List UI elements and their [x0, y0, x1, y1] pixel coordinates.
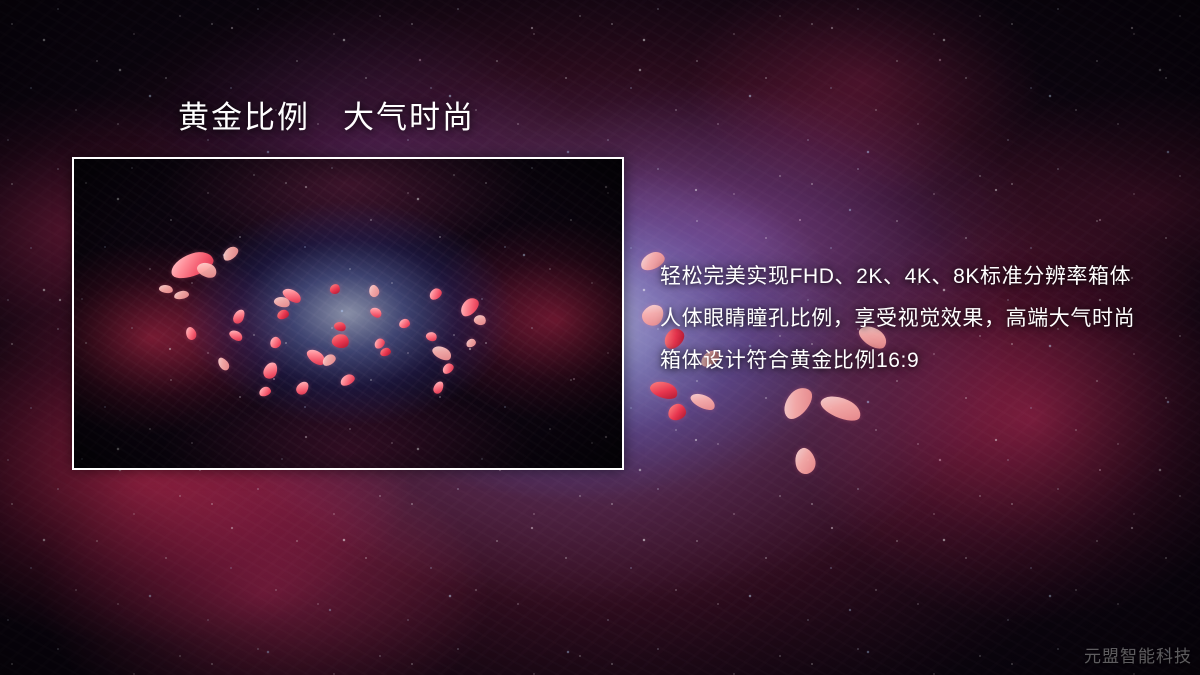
slide-canvas: 黄金比例 大气时尚 [0, 0, 1200, 675]
petal [791, 446, 818, 477]
petal [818, 390, 865, 425]
body-line: 箱体设计符合黄金比例16:9 [660, 340, 1160, 382]
page-title: 黄金比例 大气时尚 [178, 101, 475, 135]
petal [778, 383, 818, 424]
body-line: 人体眼睛瞳孔比例，享受视觉效果，高端大气时尚 [660, 298, 1160, 340]
panel-vignette [74, 159, 622, 468]
watermark: 元盟智能科技 [1084, 642, 1192, 667]
nebula-preview-panel [72, 157, 624, 470]
petal [688, 390, 717, 414]
body-line: 轻松完美实现FHD、2K、4K、8K标准分辨率箱体 [660, 256, 1160, 298]
petal [667, 402, 688, 421]
body-text-block: 轻松完美实现FHD、2K、4K、8K标准分辨率箱体 人体眼睛瞳孔比例，享受视觉效… [660, 256, 1160, 382]
panel-image [74, 159, 622, 468]
